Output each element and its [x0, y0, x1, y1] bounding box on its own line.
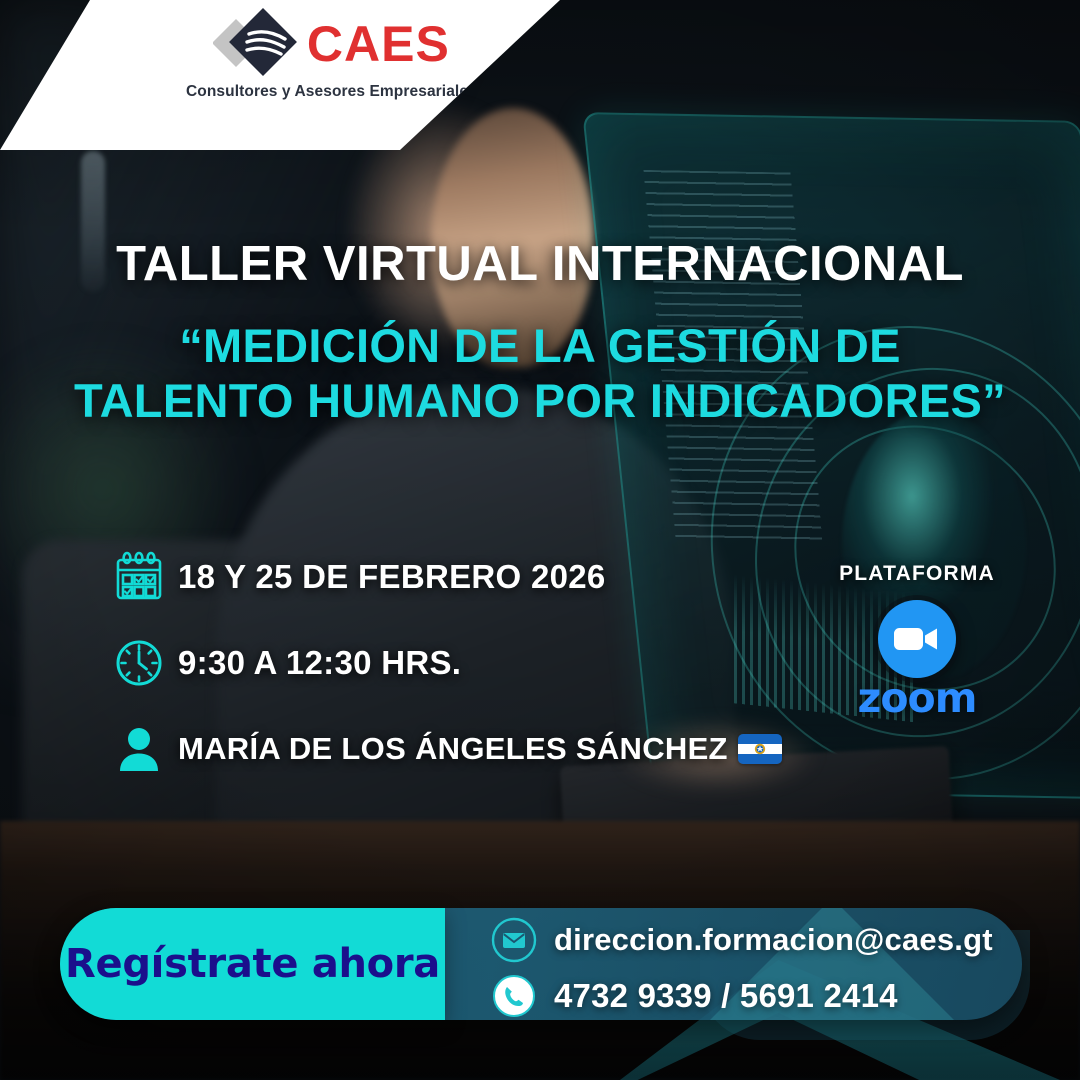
speaker-name: MARÍA DE LOS ÁNGELES SÁNCHEZ	[178, 731, 728, 767]
detail-row-time: 9:30 A 12:30 HRS.	[100, 622, 860, 704]
contact-info: direccion.formacion@caes.gt 4732 9339 / …	[490, 916, 1030, 1020]
contact-email: direccion.formacion@caes.gt	[554, 922, 993, 958]
subtitle-line-1: “MEDICIÓN DE LA GESTIÓN DE	[0, 318, 1080, 373]
caes-logo-mark-icon	[213, 8, 299, 80]
platform-label: PLATAFORMA	[812, 562, 1022, 586]
caes-logo-wordmark: CAES	[307, 19, 450, 69]
detail-row-date: 18 Y 25 DE FEBRERO 2026	[100, 536, 860, 618]
event-details: 18 Y 25 DE FEBRERO 2026	[100, 536, 860, 794]
contact-row-phone[interactable]: 4732 9339 / 5691 2414	[490, 972, 1030, 1020]
platform-section: PLATAFORMA zoom	[812, 562, 1022, 722]
event-time: 9:30 A 12:30 HRS.	[178, 644, 461, 682]
workshop-subtitle: “MEDICIÓN DE LA GESTIÓN DE TALENTO HUMAN…	[0, 318, 1080, 429]
calendar-icon	[100, 548, 178, 606]
caes-logo-tagline: Consultores y Asesores Empresariales	[186, 83, 477, 101]
caes-logo: CAES Consultores y Asesores Empresariale…	[186, 8, 477, 101]
clock-icon	[100, 634, 178, 692]
register-button[interactable]: Regístrate ahora	[60, 908, 445, 1020]
envelope-icon	[490, 916, 538, 964]
event-date: 18 Y 25 DE FEBRERO 2026	[178, 558, 606, 596]
zoom-wordmark: zoom	[812, 674, 1022, 722]
contact-row-email[interactable]: direccion.formacion@caes.gt	[490, 916, 1030, 964]
promotional-flyer: CAES Consultores y Asesores Empresariale…	[0, 0, 1080, 1080]
register-button-label: Regístrate ahora	[65, 941, 440, 987]
person-icon	[100, 720, 178, 778]
zoom-camera-icon[interactable]	[878, 600, 956, 678]
contact-phone: 4732 9339 / 5691 2414	[554, 977, 898, 1015]
main-title: TALLER VIRTUAL INTERNACIONAL	[0, 236, 1080, 292]
el-salvador-flag-icon	[738, 734, 782, 764]
speaker-name-wrap: MARÍA DE LOS ÁNGELES SÁNCHEZ	[178, 731, 782, 767]
phone-icon	[490, 972, 538, 1020]
logo-row: CAES	[213, 8, 450, 80]
subtitle-line-2: TALENTO HUMANO POR INDICADORES”	[0, 373, 1080, 428]
detail-row-speaker: MARÍA DE LOS ÁNGELES SÁNCHEZ	[100, 708, 860, 790]
